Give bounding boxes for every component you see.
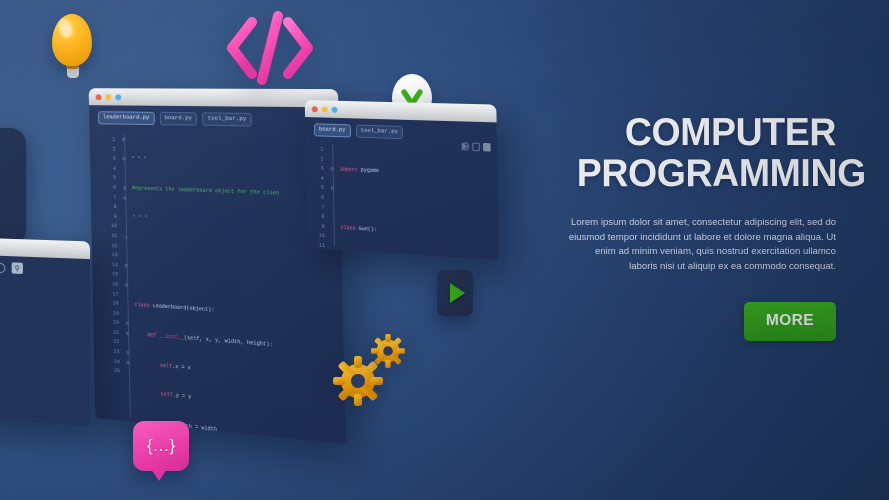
tab-board-py[interactable]: board.py: [159, 112, 197, 126]
lightbulb-glass: [52, 14, 92, 66]
code-bubble-icon: {…}: [133, 421, 191, 487]
code-line: class Leaderboard(object):: [134, 301, 343, 325]
gears-icon: [333, 334, 409, 406]
code-line: import pygame: [340, 166, 498, 182]
play-triangle-icon: [450, 283, 465, 303]
left-partial-editor-window[interactable]: ⚲ e oard.py y r.py: [0, 236, 90, 426]
secondary-editor-code-area: 1234 5678 9101112 13 ◎ ◎ ◎ import pygame…: [305, 139, 499, 260]
close-dot-icon[interactable]: [96, 94, 102, 100]
code-token: Leaderboard(object):: [153, 303, 215, 313]
left-dark-panel: [0, 128, 26, 246]
left-toolbar-search-icon[interactable]: ⚲: [12, 262, 23, 274]
minimize-dot-icon[interactable]: [105, 94, 111, 100]
secondary-editor-body: board.py tool_bar.py 1234 5678 9101112 1…: [305, 117, 499, 260]
headline-line-2: PROGRAMMING: [577, 153, 836, 194]
hero-text-column: COMPUTER PROGRAMMING Lorem ipsum dolor s…: [566, 112, 836, 341]
play-tile[interactable]: [437, 270, 473, 316]
main-editor-tabs: leaderboard.py board.py tool_bar.py: [89, 105, 339, 127]
secondary-editor-fold-markers[interactable]: ◎ ◎ ◎: [327, 140, 338, 250]
code-line: class Gun():: [341, 224, 499, 243]
code-line: [340, 195, 498, 213]
close-dot-icon[interactable]: [312, 106, 318, 112]
secondary-editor-code-lines: import pygame class Gun(): def __init__(…: [336, 140, 499, 260]
page-title: COMPUTER PROGRAMMING: [577, 112, 836, 194]
tab-tool-bar-py[interactable]: tool_bar.py: [356, 125, 404, 140]
secondary-editor-tabs: board.py tool_bar.py: [305, 117, 497, 142]
code-line: self.x = x: [136, 359, 345, 387]
secondary-editor-line-numbers: 1234 5678 9101112 13: [305, 139, 329, 249]
left-toolbar-gear-icon[interactable]: [0, 262, 5, 273]
more-button[interactable]: MORE: [744, 302, 836, 341]
code-line: def __init__(self, x, y, width, height):: [135, 330, 344, 356]
play-tile-icon: [437, 270, 473, 316]
maximize-dot-icon[interactable]: [332, 106, 338, 112]
code-line: [134, 272, 343, 295]
gear-small-icon: [371, 334, 405, 368]
code-line: self.y = y: [136, 388, 345, 418]
code-brackets-icon: [222, 8, 318, 86]
tab-tool-bar-py[interactable]: tool_bar.py: [202, 112, 252, 126]
code-line: [341, 253, 499, 260]
maximize-dot-icon[interactable]: [115, 94, 121, 100]
left-editor-body: ⚲ e oard.py y r.py: [0, 253, 90, 426]
code-bubble-shape: {…}: [133, 421, 189, 471]
secondary-editor-window[interactable]: board.py tool_bar.py 1234 5678 9101112 1…: [305, 100, 499, 260]
headline-line-1: COMPUTER: [577, 112, 836, 153]
hero-paragraph: Lorem ipsum dolor sit amet, consectetur …: [566, 216, 836, 274]
code-bubble-label: {…}: [133, 421, 189, 471]
tab-leaderboard-py[interactable]: leaderboard.py: [98, 111, 155, 125]
minimize-dot-icon[interactable]: [322, 106, 328, 112]
tab-board-py[interactable]: board.py: [314, 123, 351, 137]
lightbulb-icon: [47, 14, 97, 86]
banner-stage: ⚲ e oard.py y r.py leaderboard.py board.…: [0, 0, 889, 500]
